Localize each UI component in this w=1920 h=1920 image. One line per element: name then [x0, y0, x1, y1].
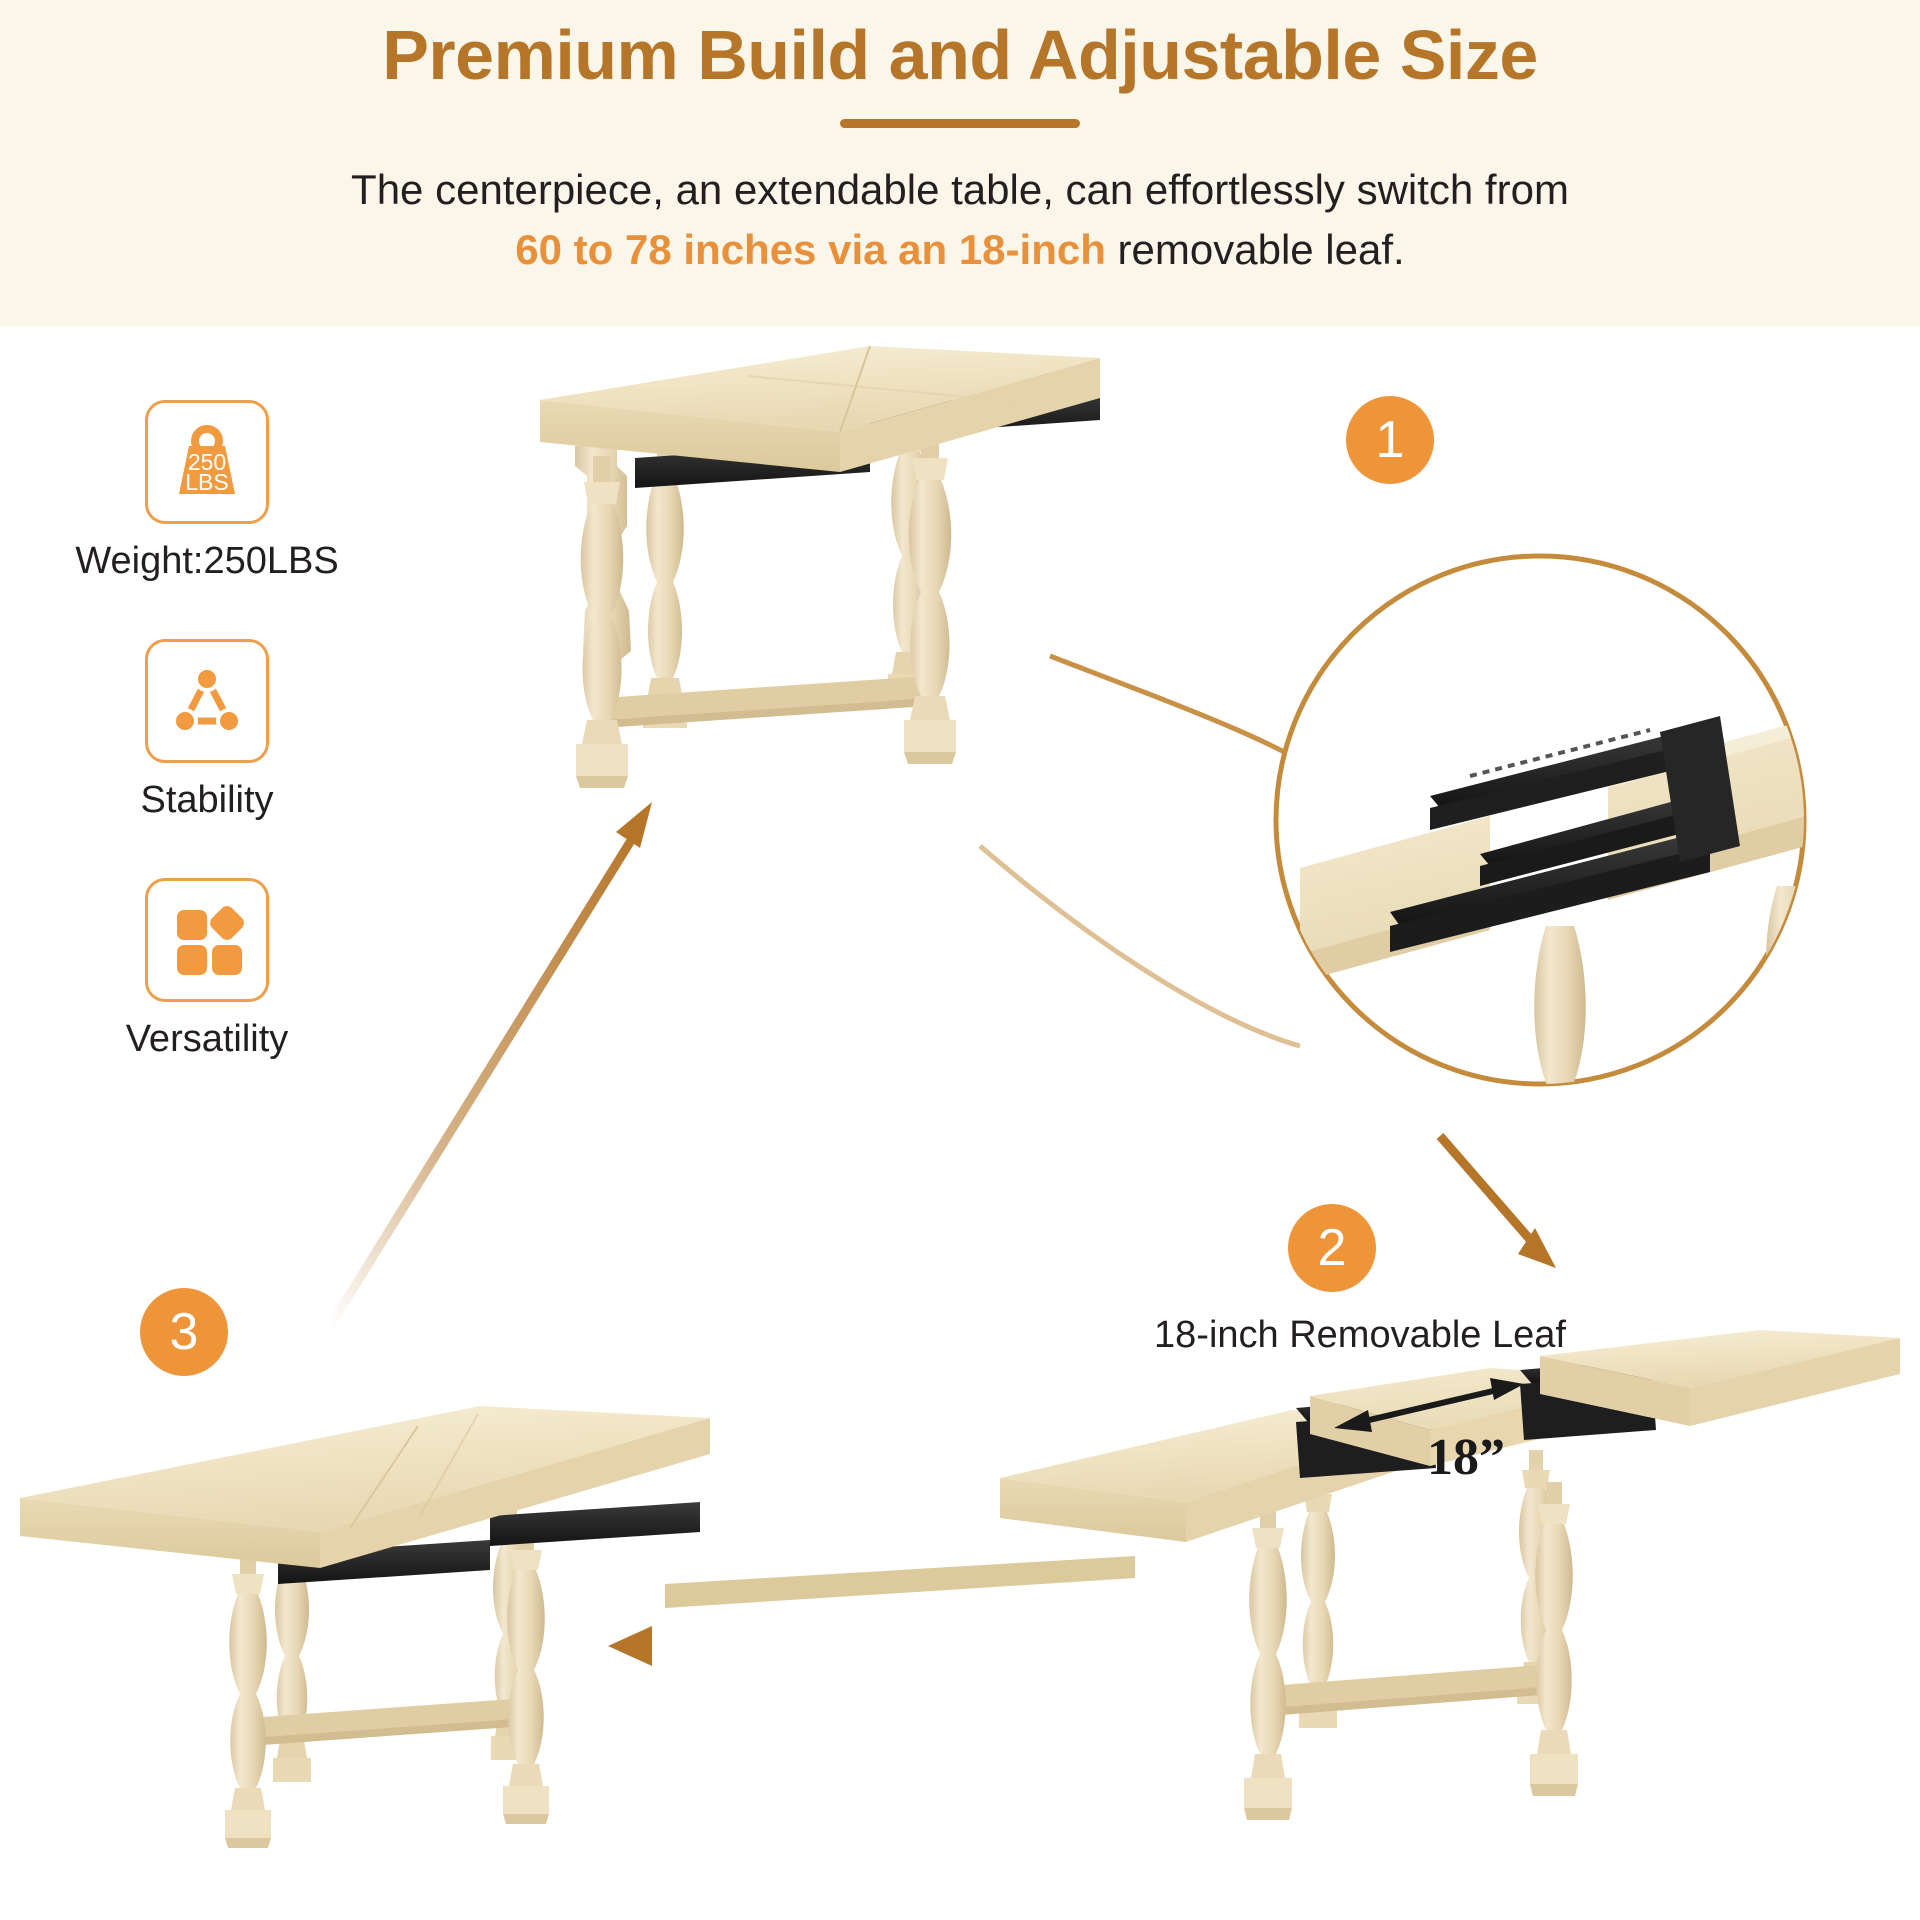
- table-top-step-3: [20, 1406, 710, 1568]
- subtitle-highlight: 60 to 78 inches via an 18-inch: [515, 226, 1106, 273]
- table-top-step-1: [540, 346, 1100, 472]
- product-illustration: 18”: [0, 326, 1920, 1920]
- arrow-to-magnifier: [1440, 1136, 1556, 1268]
- title-divider: [840, 119, 1080, 128]
- subtitle-line-1: The centerpiece, an extendable table, ca…: [351, 160, 1569, 221]
- subtitle-line-2: 60 to 78 inches via an 18-inch removable…: [351, 220, 1569, 281]
- table-step-3-extended: [20, 1406, 710, 1848]
- arrow-step3-to-step1: [330, 802, 652, 1326]
- header-band: Premium Build and Adjustable Size The ce…: [0, 0, 1920, 326]
- page-title: Premium Build and Adjustable Size: [382, 14, 1538, 97]
- table-step-1: [540, 346, 1100, 788]
- legs-group-2: [1244, 1450, 1578, 1820]
- subtitle: The centerpiece, an extendable table, ca…: [351, 160, 1569, 282]
- arrow-step2-to-step3: [608, 1626, 1010, 1666]
- subtitle-tail: removable leaf.: [1106, 226, 1405, 273]
- magnifier-inset: [980, 556, 1880, 1244]
- leaf-dimension-label: 18”: [1427, 1429, 1505, 1486]
